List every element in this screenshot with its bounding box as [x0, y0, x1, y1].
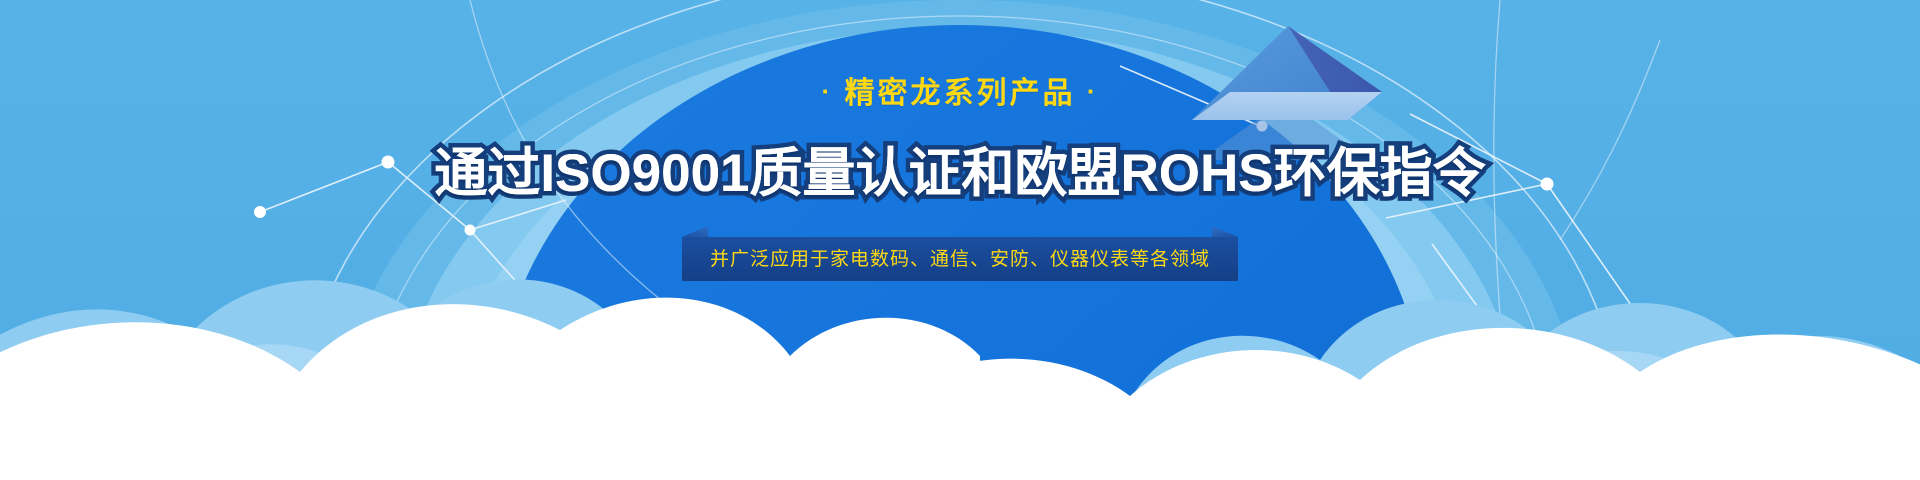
background-artwork — [0, 0, 1920, 480]
promo-banner: · 精密龙系列产品 · 通过ISO9001质量认证和欧盟ROHS环保指令 通过I… — [0, 0, 1920, 480]
background-svg — [0, 0, 1920, 480]
